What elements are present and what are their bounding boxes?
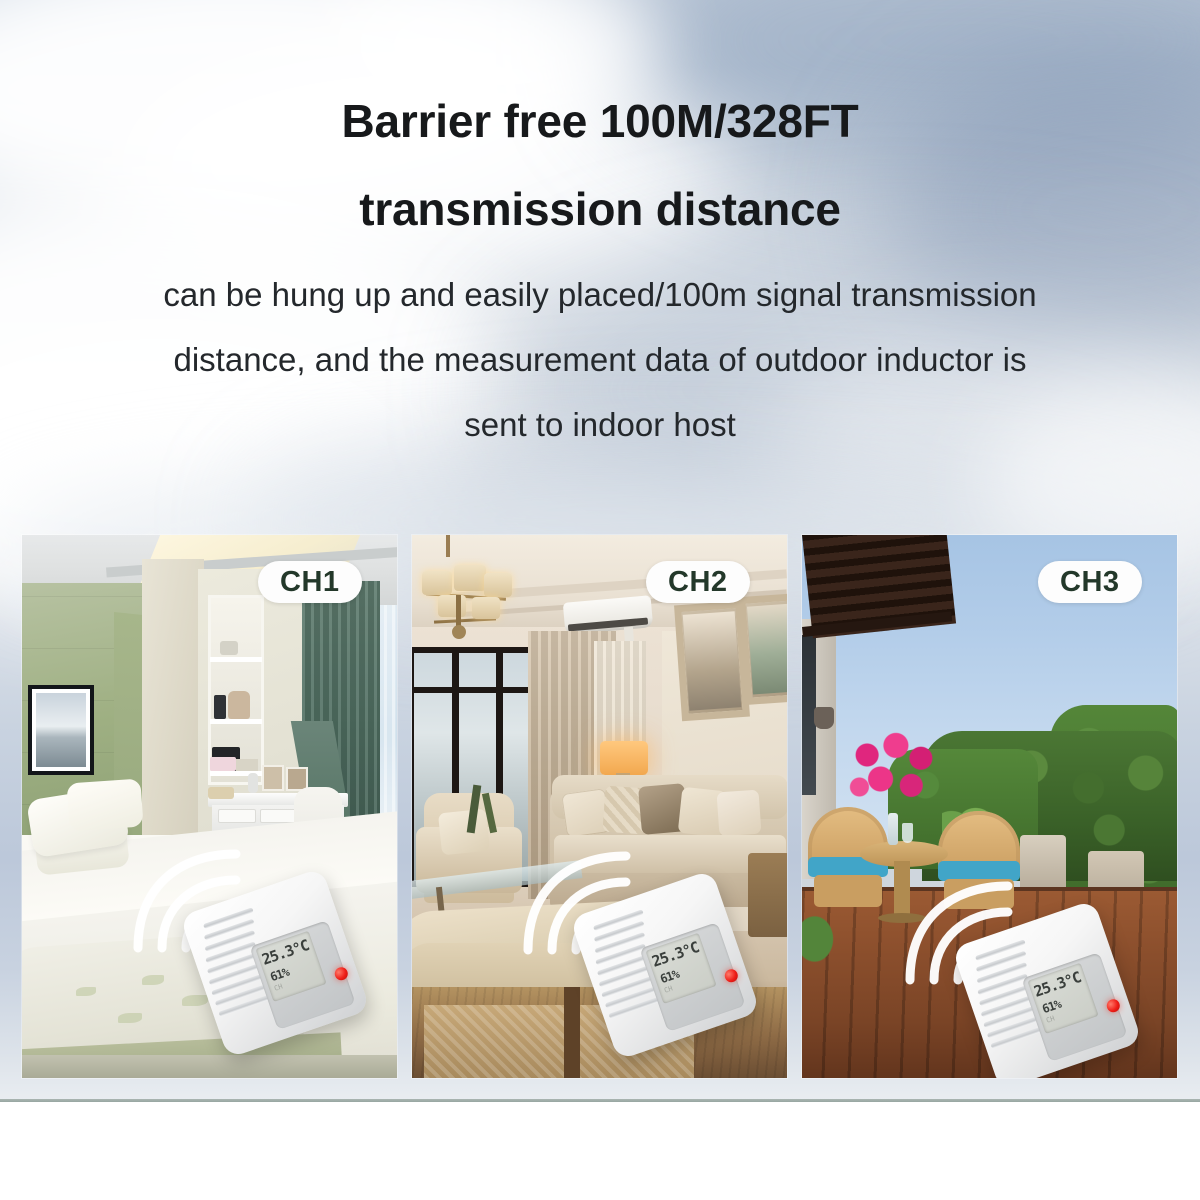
footer-area <box>0 1102 1200 1200</box>
channel-badge-ch1: CH1 <box>258 561 362 603</box>
subtitle-line-3: sent to indoor host <box>0 408 1200 441</box>
table-lamp <box>600 741 648 775</box>
section-divider <box>0 1099 1200 1102</box>
panel-ch1-bedroom-photo: 25.3°C 61% CH <box>22 535 397 1078</box>
panel-ch2-livingroom-photo: 25.3°C 61% CH <box>412 535 787 1078</box>
wireless-sensor-device-ch1: 25.3°C 61% CH <box>200 888 350 1040</box>
subtitle-line-1: can be hung up and easily placed/100m si… <box>0 278 1200 311</box>
channel-badge-ch3: CH3 <box>1038 561 1142 603</box>
wireless-sensor-device-ch3: 25.3°C 61% CH <box>972 920 1122 1072</box>
chandelier <box>416 551 508 607</box>
product-feature-page: Barrier free 100M/328FT transmission dis… <box>0 0 1200 1200</box>
panel-ch3-balcony-photo: 25.3°C 61% CH <box>802 535 1177 1078</box>
bougainvillea-flowers <box>846 731 942 811</box>
headline-line-2: transmission distance <box>0 186 1200 232</box>
headline-line-1: Barrier free 100M/328FT <box>0 98 1200 144</box>
channel-photo-row: 25.3°C 61% CH <box>22 535 1178 1078</box>
subtitle-line-2: distance, and the measurement data of ou… <box>0 343 1200 376</box>
wireless-sensor-device-ch2: 25.3°C 61% CH <box>590 890 740 1042</box>
channel-badge-ch2: CH2 <box>646 561 750 603</box>
